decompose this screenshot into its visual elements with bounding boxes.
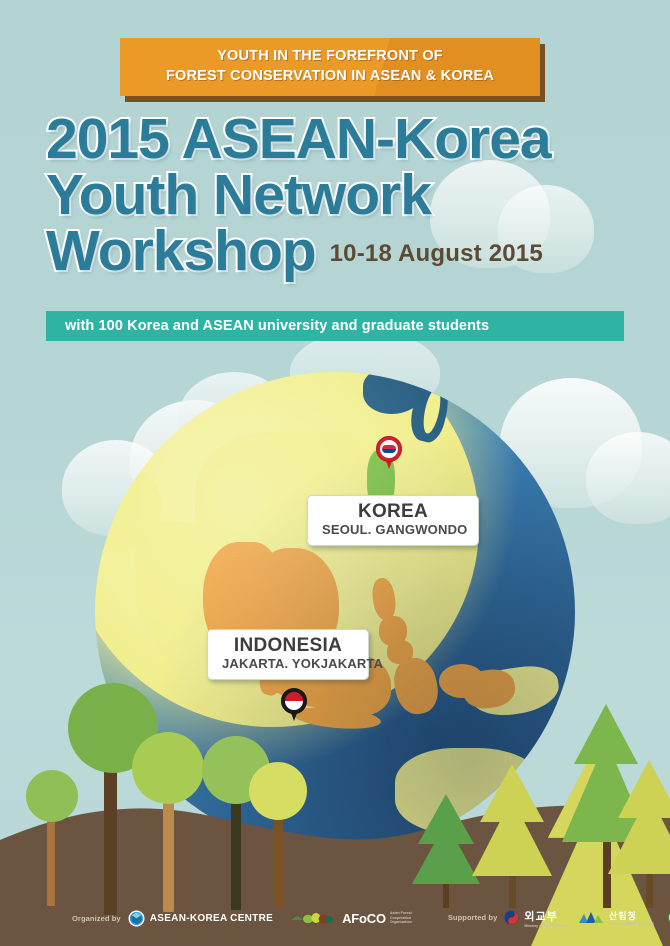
asean-korea-centre-logo-icon (128, 910, 145, 927)
afoco-text-block: AFoCO Asian Forest Cooperation Organizat… (342, 911, 412, 926)
title-line-1: 2015 ASEAN-Korea (0, 112, 670, 168)
korea-forest-service-logo-icon (578, 911, 604, 924)
pin-head (281, 688, 307, 714)
supported-by-group: Supported by 외교부 Ministry of Foreign Aff… (448, 908, 670, 928)
korea-flag-icon (380, 440, 398, 458)
landmass-sri-lanka (157, 630, 173, 656)
title-block: 2015 ASEAN-Korea Youth Network Workshop … (0, 112, 670, 280)
location-label-indonesia: INDONESIA JAKARTA. YOKJAKARTA (207, 629, 369, 680)
location-label-korea: KOREA SEOUL. GANGWONDO (307, 495, 479, 546)
banner-line-2: FOREST CONSERVATION IN ASEAN & KOREA (166, 67, 494, 87)
ministry-of-foreign-affairs-logo-icon (504, 910, 519, 925)
taeguk-bottom (382, 449, 396, 453)
kfs-text-block: 산림청 KOREA FOREST SERVICE (609, 909, 654, 926)
kfs-name-en: KOREA FOREST SERVICE (609, 922, 654, 926)
indonesia-flag-icon (285, 692, 303, 710)
location-cities: JAKARTA. YOKJAKARTA (222, 656, 354, 672)
korea-flag-pin-icon (376, 436, 402, 470)
subtitle-bar: with 100 Korea and ASEAN university and … (46, 311, 624, 341)
afoco-name: AFoCO (342, 911, 386, 926)
afoco-subtitle: Asian Forest Cooperation Organization (390, 911, 412, 924)
tree-deciduous (246, 762, 310, 904)
kfs-name-kr: 산림청 (609, 909, 654, 922)
title-line-3: Workshop (0, 224, 316, 280)
organized-by-group: Organized by ASEAN-KOREA CENTRE AFoCO As… (72, 910, 412, 927)
indonesia-flag-pin-icon (281, 688, 307, 722)
footer-logos: Organized by ASEAN-KOREA CENTRE AFoCO As… (0, 890, 670, 946)
mofa-name-en: Ministry of Foreign Affairs (524, 924, 569, 928)
location-name: INDONESIA (222, 636, 354, 656)
banner-line-1: YOUTH IN THE FOREFRONT OF (217, 47, 443, 67)
title-line-2: Youth Network (0, 168, 670, 224)
mofa-text-block: 외교부 Ministry of Foreign Affairs (524, 908, 569, 928)
tree-deciduous (128, 732, 208, 904)
location-cities: SEOUL. GANGWONDO (322, 522, 464, 538)
tree-canopy (132, 732, 204, 804)
asean-korea-centre-name: ASEAN-KOREA CENTRE (150, 913, 273, 924)
afoco-logo-icon (291, 911, 337, 925)
event-date: 10-18 August 2015 (330, 240, 543, 268)
title-line-3-row: Workshop 10-18 August 2015 (0, 224, 670, 280)
pin-head (376, 436, 402, 462)
tree-canopy (249, 762, 307, 820)
poster-root: KOREA SEOUL. GANGWONDO INDONESIA JAKARTA… (0, 0, 670, 946)
headline-banner: YOUTH IN THE FOREFRONT OF FOREST CONSERV… (120, 38, 540, 96)
organized-by-label: Organized by (72, 914, 121, 923)
location-name: KOREA (322, 502, 464, 522)
subtitle-text: with 100 Korea and ASEAN university and … (65, 318, 489, 334)
mofa-name-kr: 외교부 (524, 908, 569, 924)
tree-conifer (604, 756, 670, 908)
supported-by-label: Supported by (448, 913, 498, 922)
